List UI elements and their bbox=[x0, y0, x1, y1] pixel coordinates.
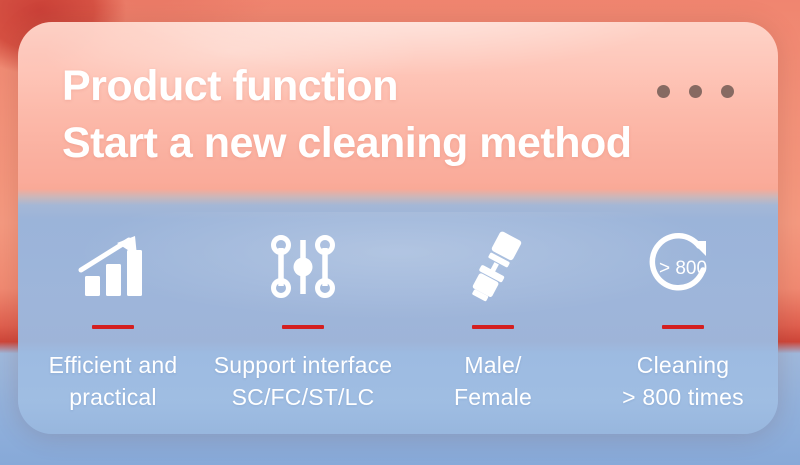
fiber-connector-icon bbox=[457, 227, 529, 307]
dot-icon[interactable] bbox=[689, 85, 702, 98]
feature-divider bbox=[472, 325, 514, 329]
feature-label: Cleaning > 800 times bbox=[622, 349, 744, 413]
feature-label: Male/ Female bbox=[454, 349, 532, 413]
cycle-800-icon: > 800 bbox=[645, 227, 721, 307]
dot-icon[interactable] bbox=[721, 85, 734, 98]
heading-line-1: Product function bbox=[62, 58, 632, 115]
feature-label: Efficient and practical bbox=[49, 349, 178, 413]
heading-line-2: Start a new cleaning method bbox=[62, 115, 632, 172]
page-title: Product function Start a new cleaning me… bbox=[62, 58, 632, 172]
dot-icon[interactable] bbox=[657, 85, 670, 98]
feature-divider bbox=[92, 325, 134, 329]
sliders-interface-icon bbox=[267, 227, 339, 307]
product-feature-card: Product function Start a new cleaning me… bbox=[18, 22, 778, 434]
feature-item-interfaces[interactable]: Support interface SC/FC/ST/LC bbox=[208, 227, 398, 413]
cycle-count-text: > 800 bbox=[659, 258, 707, 279]
growth-bar-chart-icon bbox=[77, 227, 149, 307]
menu-dots[interactable] bbox=[657, 85, 734, 98]
feature-item-male-female[interactable]: Male/ Female bbox=[398, 227, 588, 413]
feature-divider bbox=[282, 325, 324, 329]
feature-item-efficient[interactable]: Efficient and practical bbox=[18, 227, 208, 413]
feature-list: Efficient and practical bbox=[18, 227, 778, 413]
feature-item-cleaning-cycles[interactable]: > 800 Cleaning > 800 times bbox=[588, 227, 778, 413]
feature-divider bbox=[662, 325, 704, 329]
feature-label: Support interface SC/FC/ST/LC bbox=[214, 349, 393, 413]
